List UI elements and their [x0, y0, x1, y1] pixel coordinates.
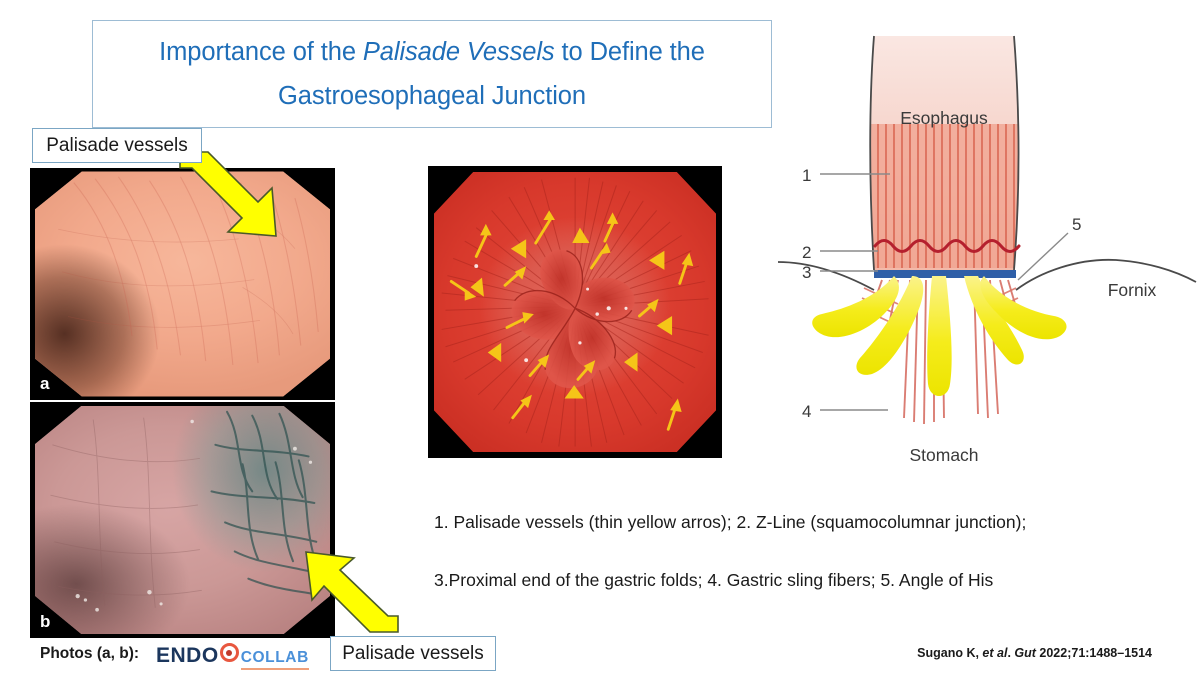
callout-bottom-label: Palisade vessels — [342, 643, 484, 665]
caption-line-1: 1. Palisade vessels (thin yellow arros);… — [434, 512, 1026, 533]
gastric-sling-fibers — [812, 276, 1066, 396]
callout-palisade-vessels-top: Palisade vessels — [32, 128, 202, 163]
title-emphasis: Palisade Vessels — [363, 38, 555, 66]
diagram-number-5: 5 — [1072, 215, 1081, 234]
endoscopic-photo-center — [428, 166, 722, 458]
citation-author: Sugano K, — [917, 646, 982, 660]
logo-o-icon — [220, 643, 239, 662]
slide-canvas: Importance of the Palisade Vessels to De… — [0, 0, 1200, 675]
logo-collab-text: COLLAB — [241, 649, 309, 666]
endoscopic-photo-b: b — [30, 402, 335, 638]
title-line-2: Gastroesophageal Junction — [278, 74, 586, 118]
citation-etal: et al — [982, 646, 1007, 660]
callout-top-label: Palisade vessels — [46, 135, 188, 157]
fornix-contour-left — [778, 262, 874, 290]
photo-a-mucosa — [35, 171, 331, 396]
diagram-label-stomach: Stomach — [909, 445, 978, 465]
citation-journal: Gut — [1014, 646, 1036, 660]
diagram-number-2: 2 — [802, 243, 811, 262]
caption-line-2: 3.Proximal end of the gastric folds; 4. … — [434, 570, 993, 591]
title-text-part2: to Define the — [555, 38, 705, 66]
callout-palisade-vessels-bottom: Palisade vessels — [330, 636, 496, 671]
diagram-number-1: 1 — [802, 166, 811, 185]
citation-reference: Sugano K, et al. Gut 2022;71:1488–1514 — [917, 646, 1152, 660]
endocollab-logo: ENDOCOLLAB — [156, 643, 309, 667]
endoscopic-photo-a: a — [30, 168, 335, 400]
title-text-part1: Importance of the — [159, 38, 363, 66]
citation-rest: 2022;71:1488–1514 — [1036, 646, 1152, 660]
logo-underline — [241, 668, 309, 670]
diagram-label-esophagus: Esophagus — [900, 108, 988, 128]
photo-c-vessel-pattern — [434, 172, 716, 452]
gej-anatomy-diagram: 1 2 3 4 5 Esophagus Stomach Fornix — [778, 18, 1198, 488]
logo-endo-text: ENDO — [156, 644, 219, 668]
logo-collab-wrap: COLLAB — [241, 649, 309, 667]
photo-b-letter: b — [40, 612, 50, 632]
diagram-number-3: 3 — [802, 263, 811, 282]
slide-title-box: Importance of the Palisade Vessels to De… — [92, 20, 772, 128]
diagram-label-fornix: Fornix — [1108, 280, 1157, 300]
photo-a-letter: a — [40, 374, 49, 394]
diagram-number-4: 4 — [802, 402, 811, 421]
fornix-contour-right — [1016, 260, 1196, 290]
photo-a-vessel-pattern — [35, 171, 331, 396]
photo-b-mucosa — [35, 406, 331, 635]
gej-anatomy-svg: 1 2 3 4 5 Esophagus Stomach Fornix — [778, 18, 1198, 488]
photo-c-mucosa — [434, 172, 716, 452]
photo-b-vessel-pattern — [35, 406, 331, 635]
photos-credit-label: Photos (a, b): — [40, 645, 139, 663]
title-line-1: Importance of the Palisade Vessels to De… — [159, 30, 705, 74]
